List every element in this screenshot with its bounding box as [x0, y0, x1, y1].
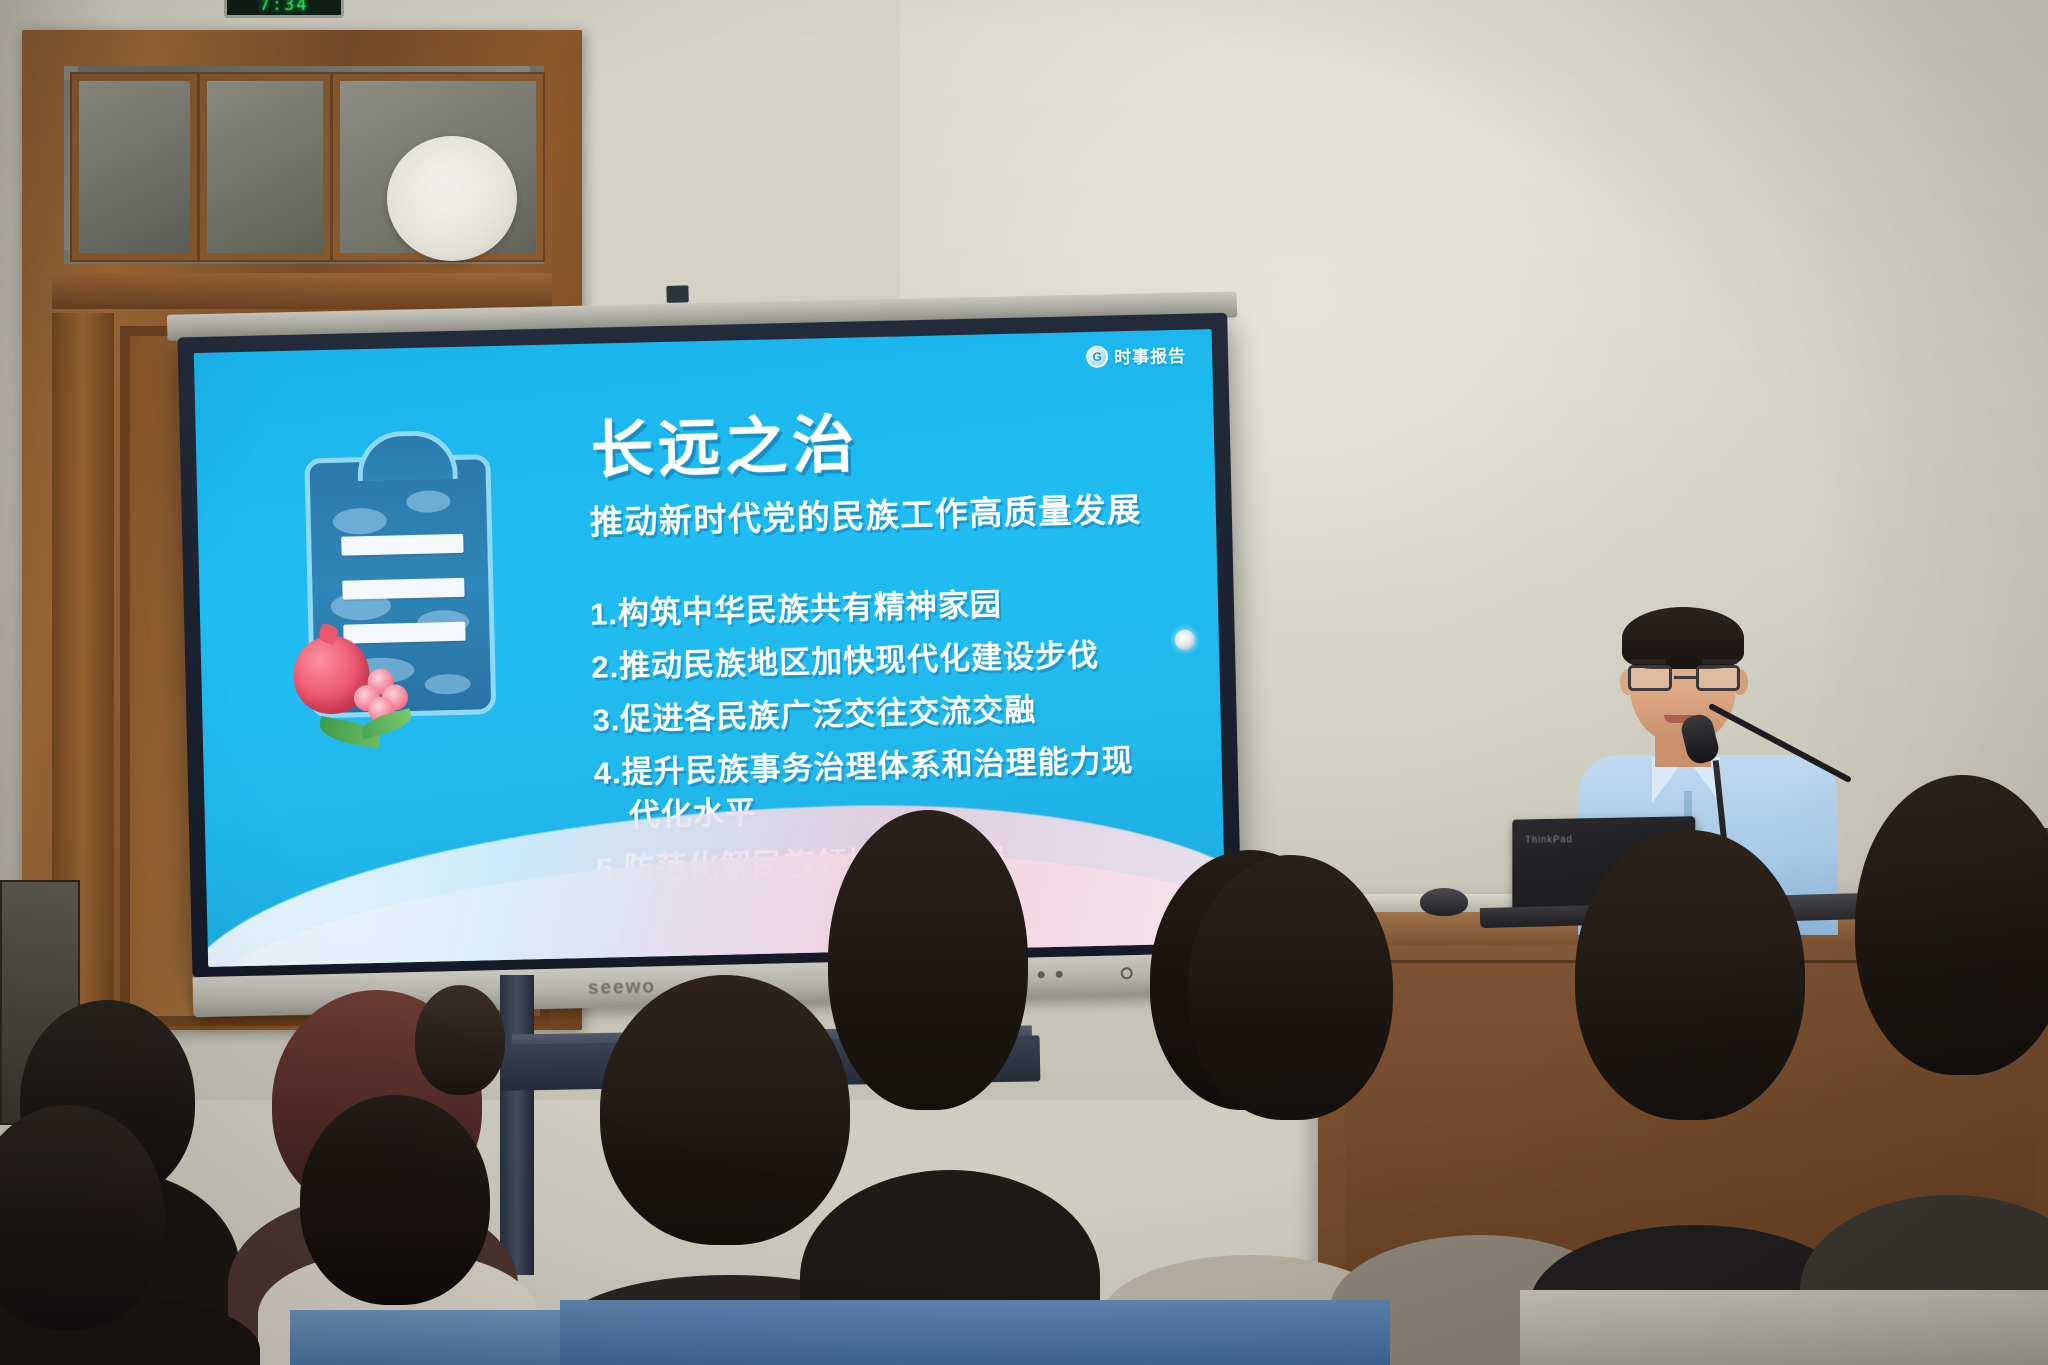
audience-member	[1575, 830, 1805, 1120]
glasses-lens-right	[1696, 665, 1740, 691]
audience-member	[1188, 855, 1393, 1120]
cloud-motif-icon	[406, 490, 451, 513]
door-glass-pane-left	[72, 74, 197, 260]
front-row-table-right	[1520, 1290, 2048, 1365]
glasses-icon	[1626, 665, 1742, 693]
slide-screen[interactable]: G 时事报告	[194, 329, 1226, 967]
eyebrow-left	[1630, 659, 1666, 664]
display-bezel: G 时事报告	[177, 313, 1242, 978]
door-glass-pane-middle	[200, 74, 330, 260]
front-row-table-center	[560, 1300, 1390, 1365]
glasses-lens-left	[1628, 665, 1672, 691]
bullet-number: 3.	[592, 702, 621, 738]
lecture-hall-scene: 7:34 G 时事报告	[0, 0, 2048, 1365]
bullet-text: 推动民族地区加快现代化建设步伐	[619, 638, 1100, 684]
camera-icon	[666, 285, 688, 302]
cloud-motif-icon	[424, 674, 470, 695]
front-row-table-left	[290, 1310, 570, 1365]
glasses-bridge	[1674, 676, 1696, 679]
audience-member	[415, 985, 505, 1095]
bullet-text: 提升民族事务治理体系和治理能力现	[621, 744, 1134, 791]
slide-subtitle: 推动新时代党的民族工作高质量发展	[589, 483, 1142, 544]
bullet-number: 2.	[591, 649, 620, 685]
slide-brand-logo: G 时事报告	[1086, 342, 1187, 369]
numeral-stroke	[342, 578, 464, 600]
logo-badge-icon: G	[1086, 345, 1109, 368]
slide-bullet-2: 2.推动民族地区加快现代化建设步伐	[591, 632, 1212, 689]
slide-bullet-3: 3.促进各民族广泛交往交流交融	[592, 685, 1213, 742]
slide-bullet-1: 1.构筑中华民族共有精神家园	[590, 579, 1211, 636]
power-icon[interactable]	[1121, 967, 1133, 979]
numeral-stroke	[341, 534, 463, 556]
door-mid-rail	[52, 273, 552, 309]
audience-member	[300, 1095, 490, 1305]
digital-wall-clock: 7:34	[224, 0, 344, 18]
display-brand-label: seewo	[588, 976, 657, 1000]
eyebrow-right	[1702, 659, 1738, 664]
round-wall-disc	[387, 136, 517, 261]
audience-member	[828, 810, 1028, 1110]
numeral-stroke	[343, 622, 465, 644]
mouse-icon[interactable]	[1420, 888, 1468, 916]
cloud-motif-icon	[333, 508, 388, 535]
clock-time: 7:34	[260, 0, 309, 15]
slide-title: 长远之治	[590, 393, 860, 489]
bullet-number: 1.	[590, 596, 619, 632]
interactive-display[interactable]: G 时事报告	[177, 313, 1242, 993]
audience-member	[600, 975, 850, 1245]
bullet-number: 4.	[593, 756, 622, 792]
laptop-brand-label: ThinkPad	[1525, 834, 1573, 845]
bullet-text: 构筑中华民族共有精神家园	[618, 587, 1003, 631]
bullet-text: 促进各民族广泛交往交流交融	[620, 693, 1037, 738]
slide-logo-text: 时事报告	[1114, 342, 1187, 369]
slide-ribbon-front	[194, 795, 1226, 967]
